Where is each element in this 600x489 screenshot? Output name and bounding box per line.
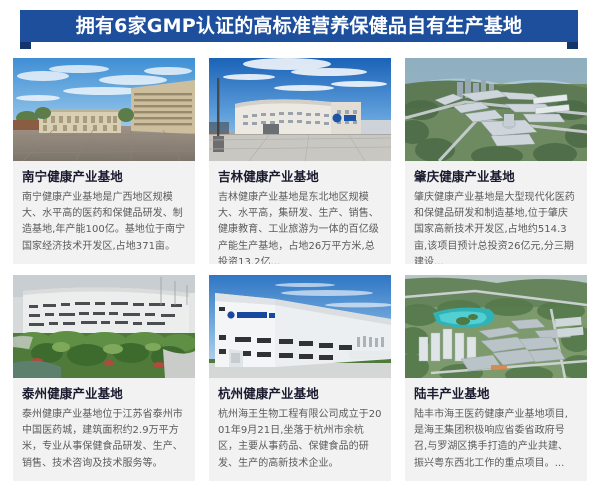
card-title: 杭州健康产业基地 (218, 386, 382, 401)
card-title: 南宁健康产业基地 (22, 169, 186, 184)
card-description: 肇庆健康产业基地是大型现代化医药和保健品研发和制造基地,位于肇庆国家高新技术开发… (414, 190, 578, 264)
card-body: 吉林健康产业基地 吉林健康产业基地是东北地区规模大、水平高，集研发、生产、销售、… (209, 161, 391, 264)
card-title: 吉林健康产业基地 (218, 169, 382, 184)
card-body: 杭州健康产业基地 杭州海王生物工程有限公司成立于2001年9月21日,坐落于杭州… (209, 378, 391, 472)
header-ribbon: 拥有6家GMP认证的高标准营养保健品自有生产基地 (20, 10, 578, 42)
taizhou-campus-photo (13, 275, 195, 378)
base-card[interactable]: 泰州健康产业基地 泰州健康产业基地位于江苏省泰州市中国医药城，建筑面积约2.9万… (13, 275, 195, 481)
card-description: 吉林健康产业基地是东北地区规模大、水平高，集研发、生产、销售、健康教育、工业旅游… (218, 190, 382, 264)
card-description: 陆丰市海王医药健康产业基地项目,是海王集团积极响应省委省政府号召,与罗湖区携手打… (414, 407, 578, 472)
card-title: 泰州健康产业基地 (22, 386, 186, 401)
card-description: 杭州海王生物工程有限公司成立于2001年9月21日,坐落于杭州市余杭区，主要从事… (218, 407, 382, 472)
lufeng-campus-photo (405, 275, 587, 378)
card-body: 泰州健康产业基地 泰州健康产业基地位于江苏省泰州市中国医药城，建筑面积约2.9万… (13, 378, 195, 472)
nanning-campus-photo (13, 58, 195, 161)
card-description: 泰州健康产业基地位于江苏省泰州市中国医药城，建筑面积约2.9万平方米，专业从事保… (22, 407, 186, 472)
page-title: 拥有6家GMP认证的高标准营养保健品自有生产基地 (76, 17, 522, 36)
hangzhou-campus-photo (209, 275, 391, 378)
card-title: 陆丰产业基地 (414, 386, 578, 401)
card-description: 南宁健康产业基地是广西地区规模大、水平高的医药和保健品研发、制造基地,年产能10… (22, 190, 186, 255)
ribbon-fold-left (20, 42, 31, 49)
ribbon-fold-right (567, 42, 578, 49)
card-body: 肇庆健康产业基地 肇庆健康产业基地是大型现代化医药和保健品研发和制造基地,位于肇… (405, 161, 587, 264)
base-card[interactable]: 杭州健康产业基地 杭州海王生物工程有限公司成立于2001年9月21日,坐落于杭州… (209, 275, 391, 481)
base-card[interactable]: 南宁健康产业基地 南宁健康产业基地是广西地区规模大、水平高的医药和保健品研发、制… (13, 58, 195, 264)
base-card[interactable]: 肇庆健康产业基地 肇庆健康产业基地是大型现代化医药和保健品研发和制造基地,位于肇… (405, 58, 587, 264)
card-body: 陆丰产业基地 陆丰市海王医药健康产业基地项目,是海王集团积极响应省委省政府号召,… (405, 378, 587, 472)
base-card[interactable]: 陆丰产业基地 陆丰市海王医药健康产业基地项目,是海王集团积极响应省委省政府号召,… (405, 275, 587, 481)
card-body: 南宁健康产业基地 南宁健康产业基地是广西地区规模大、水平高的医药和保健品研发、制… (13, 161, 195, 255)
card-title: 肇庆健康产业基地 (414, 169, 578, 184)
page-header: 拥有6家GMP认证的高标准营养保健品自有生产基地 (0, 0, 600, 58)
zhaoqing-campus-photo (405, 58, 587, 161)
base-card[interactable]: 吉林健康产业基地 吉林健康产业基地是东北地区规模大、水平高，集研发、生产、销售、… (209, 58, 391, 264)
base-card-grid: 南宁健康产业基地 南宁健康产业基地是广西地区规模大、水平高的医药和保健品研发、制… (13, 58, 587, 481)
jilin-campus-photo (209, 58, 391, 161)
